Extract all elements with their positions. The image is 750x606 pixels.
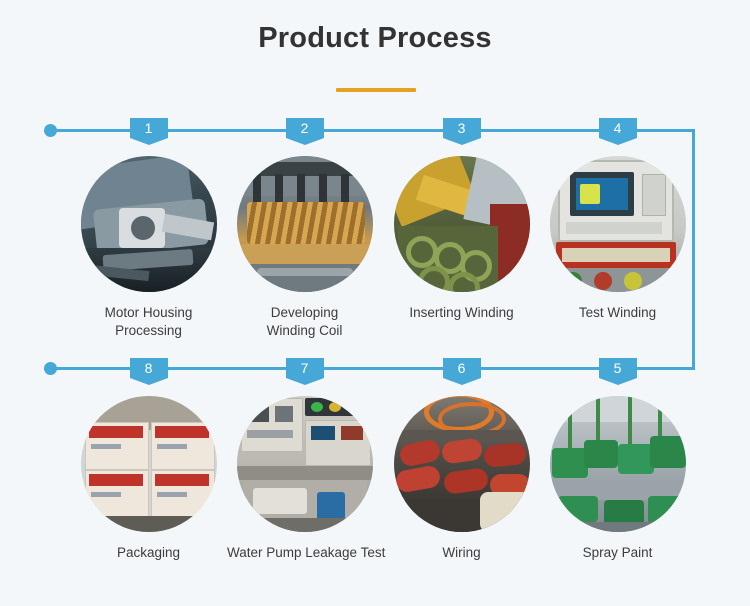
coil-winding-machine-photo <box>237 156 373 292</box>
spray-paint-line-photo <box>550 396 686 532</box>
process-step-8[interactable]: 8 Packaging <box>71 358 226 562</box>
step-caption-line1: Spray Paint <box>583 545 653 560</box>
stator-winding-insertion-photo <box>394 156 530 292</box>
step-caption: Packaging <box>71 544 226 562</box>
step-number-badge: 8 <box>130 358 168 378</box>
step-caption: Wiring <box>384 544 539 562</box>
product-process-infographic: Product Process 1 Motor Housing Processi… <box>0 0 750 606</box>
process-step-1[interactable]: 1 Motor Housing Processing <box>71 118 226 340</box>
process-step-5[interactable]: 5 Spray Paint <box>540 358 695 562</box>
step-number-badge: 1 <box>130 118 168 138</box>
step-caption: Developing Winding Coil <box>227 304 382 340</box>
step-number-badge: 2 <box>286 118 324 138</box>
pump-leakage-test-bench-photo <box>237 396 373 532</box>
step-caption-line1: Developing <box>271 305 339 320</box>
title-underline-accent <box>336 88 416 92</box>
step-number-badge: 7 <box>286 358 324 378</box>
cnc-lathe-machining-photo <box>81 156 217 292</box>
step-caption: Motor Housing Processing <box>71 304 226 340</box>
step-caption-line2: Winding Coil <box>267 323 343 338</box>
connector-end-dot-bottom <box>44 362 57 375</box>
step-caption: Inserting Winding <box>384 304 539 322</box>
step-caption-line1: Motor Housing <box>105 305 193 320</box>
step-caption-line1: Water Pump Leakage Test <box>227 545 385 560</box>
step-caption: Water Pump Leakage Test <box>227 544 382 562</box>
step-caption: Test Winding <box>540 304 695 322</box>
packaged-cartons-photo <box>81 396 217 532</box>
winding-test-equipment-photo <box>550 156 686 292</box>
step-number-badge: 5 <box>599 358 637 378</box>
process-step-4[interactable]: 4 Test Winding <box>540 118 695 322</box>
connector-start-dot-top <box>44 124 57 137</box>
process-step-2[interactable]: 2 Developing Winding Coil <box>227 118 382 340</box>
process-step-6[interactable]: 6 Wiring <box>384 358 539 562</box>
step-caption-line1: Test Winding <box>579 305 656 320</box>
step-caption-line2: Processing <box>115 323 182 338</box>
process-step-7[interactable]: 7 Water Pump Leakage Test <box>227 358 382 562</box>
process-step-3[interactable]: 3 Inserting Winding <box>384 118 539 322</box>
wiring-assembly-photo <box>394 396 530 532</box>
page-title: Product Process <box>0 22 750 55</box>
step-caption: Spray Paint <box>540 544 695 562</box>
step-number-badge: 4 <box>599 118 637 138</box>
step-number-badge: 3 <box>443 118 481 138</box>
step-caption-line1: Packaging <box>117 545 180 560</box>
step-number-badge: 6 <box>443 358 481 378</box>
step-caption-line1: Inserting Winding <box>409 305 513 320</box>
step-caption-line1: Wiring <box>442 545 480 560</box>
